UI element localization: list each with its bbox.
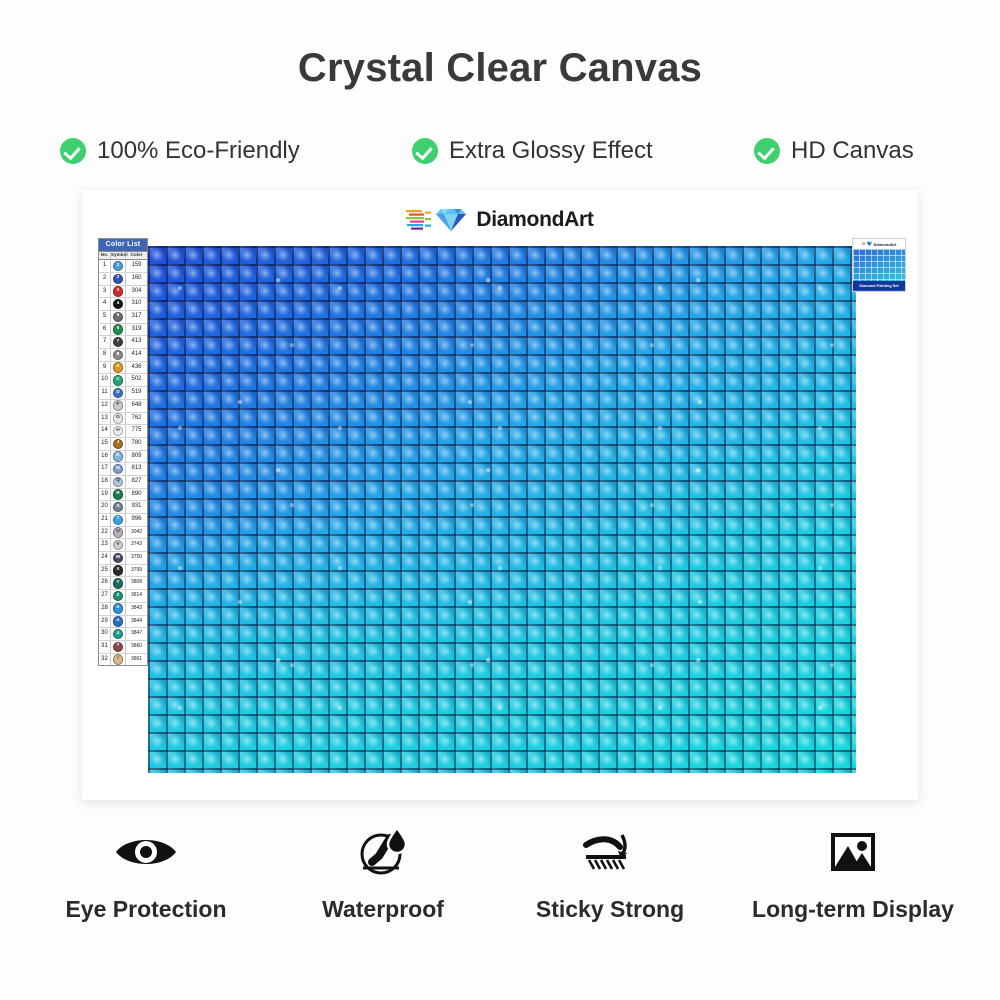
cell-symbol: 1 xyxy=(111,260,126,272)
cell-no: 10 xyxy=(99,374,111,386)
table-row: 55317 xyxy=(99,311,147,324)
cell-symbol: J xyxy=(111,438,126,450)
cell-symbol: o xyxy=(111,603,126,615)
table-row: 3043847 xyxy=(99,628,147,641)
cell-color-code: 775 xyxy=(126,425,147,437)
product-marketing-page: Crystal Clear Canvas 100% Eco-Friendly E… xyxy=(0,0,1000,1000)
symbol-badge-icon: 3 xyxy=(113,286,123,296)
cell-no: 20 xyxy=(99,501,111,513)
symbol-badge-icon: N xyxy=(113,464,123,474)
symbol-badge-icon: o xyxy=(113,603,123,613)
cell-no: 25 xyxy=(99,565,111,577)
feature-label: Extra Glossy Effect xyxy=(449,137,653,165)
cell-color-code: 319 xyxy=(126,324,147,336)
cell-symbol: X xyxy=(111,565,126,577)
product-panel: DiamondArt Color List No. Symbol Color 1… xyxy=(82,190,918,800)
benefit-item-eye-protection: Eye Protection xyxy=(20,826,272,923)
thumbnail-diamond-grid xyxy=(853,249,905,281)
table-row: 21T996 xyxy=(99,514,147,527)
cell-color-code: 3847 xyxy=(126,628,147,640)
product-thumbnail: DiamondArt Diamond Painting Set xyxy=(852,238,906,292)
table-row: 27Z3814 xyxy=(99,590,147,603)
cell-color-code: 3042 xyxy=(126,527,147,539)
symbol-badge-icon: K xyxy=(113,451,123,461)
table-row: 9A436 xyxy=(99,362,147,375)
brand-logo: DiamondArt xyxy=(82,204,918,236)
benefit-item-sticky-strong: Sticky Strong xyxy=(494,826,726,923)
feature-list: 100% Eco-Friendly Extra Glossy Effect HD… xyxy=(60,131,950,171)
table-row: 13G762 xyxy=(99,413,147,426)
cell-no: 19 xyxy=(99,489,111,501)
table-row: 14H775 xyxy=(99,425,147,438)
symbol-badge-icon: C xyxy=(113,375,123,385)
cell-no: 22 xyxy=(99,527,111,539)
table-row: 32/3861 xyxy=(99,654,147,666)
table-row: 26Y3808 xyxy=(99,577,147,590)
cell-no: 8 xyxy=(99,349,111,361)
table-row: 22160 xyxy=(99,273,147,286)
cell-color-code: 809 xyxy=(126,451,147,463)
table-row: 17N813 xyxy=(99,463,147,476)
feature-item-eco-friendly: 100% Eco-Friendly xyxy=(60,137,412,165)
feature-item-hd-canvas: HD Canvas xyxy=(754,137,950,165)
cell-symbol: 4 xyxy=(111,628,126,640)
cell-symbol: H xyxy=(111,425,126,437)
table-row: 19R890 xyxy=(99,489,147,502)
cell-no: 14 xyxy=(99,425,111,437)
cell-color-code: 310 xyxy=(126,298,147,310)
cell-no: 23 xyxy=(99,539,111,551)
cell-no: 27 xyxy=(99,590,111,602)
table-row: 15J780 xyxy=(99,438,147,451)
feature-label: HD Canvas xyxy=(791,137,914,165)
cell-no: 31 xyxy=(99,641,111,653)
table-row: 10C502 xyxy=(99,374,147,387)
cell-no: 29 xyxy=(99,616,111,628)
cell-no: 12 xyxy=(99,400,111,412)
symbol-badge-icon: 4 xyxy=(113,629,123,639)
color-list-header: No. Symbol Color xyxy=(99,252,147,261)
symbol-badge-icon: 6 xyxy=(113,324,123,334)
cell-symbol: 8 xyxy=(111,349,126,361)
benefit-label: Long-term Display xyxy=(752,896,954,923)
cell-symbol: Z xyxy=(111,590,126,602)
page-title: Crystal Clear Canvas xyxy=(0,46,1000,91)
thumbnail-caption: Diamond Painting Set xyxy=(853,281,905,290)
thumbnail-brand-bar: DiamondArt xyxy=(853,239,905,249)
cell-no: 16 xyxy=(99,451,111,463)
symbol-badge-icon: Z xyxy=(113,591,123,601)
table-row: 25X3799 xyxy=(99,565,147,578)
symbol-badge-icon: W xyxy=(113,553,123,563)
cell-no: 1 xyxy=(99,260,111,272)
cell-color-code: 3861 xyxy=(126,654,147,666)
table-row: 20S931 xyxy=(99,501,147,514)
cell-symbol: K xyxy=(111,451,126,463)
cell-symbol: A xyxy=(111,362,126,374)
cell-symbol: V xyxy=(111,539,126,551)
check-circle-icon xyxy=(412,138,438,164)
cell-no: 15 xyxy=(99,438,111,450)
cell-no: 9 xyxy=(99,362,111,374)
cell-no: 21 xyxy=(99,514,111,526)
symbol-badge-icon: 2 xyxy=(113,274,123,284)
symbol-badge-icon: D xyxy=(113,388,123,398)
cell-symbol: / xyxy=(111,654,126,666)
diamond-logo-icon xyxy=(862,241,873,247)
cell-symbol: R xyxy=(111,489,126,501)
cell-no: 11 xyxy=(99,387,111,399)
symbol-badge-icon: Y xyxy=(113,578,123,588)
cell-color-code: 648 xyxy=(126,400,147,412)
symbol-badge-icon: V xyxy=(113,540,123,550)
table-row: 28o3843 xyxy=(99,603,147,616)
cell-symbol: 5 xyxy=(111,311,126,323)
symbol-badge-icon: 1 xyxy=(113,261,123,271)
cell-no: 26 xyxy=(99,577,111,589)
column-header-symbol: Symbol xyxy=(111,252,126,260)
symbol-badge-icon: 5 xyxy=(113,312,123,322)
cell-no: 3 xyxy=(99,286,111,298)
cell-color-code: 519 xyxy=(126,387,147,399)
waterdrop-check-icon xyxy=(357,826,409,878)
column-header-color: Color xyxy=(126,252,147,260)
cell-color-code: 436 xyxy=(126,362,147,374)
cell-no: 17 xyxy=(99,463,111,475)
cell-symbol: Y xyxy=(111,577,126,589)
table-row: 66319 xyxy=(99,324,147,337)
symbol-badge-icon: ? xyxy=(113,642,123,652)
diamond-canvas-artwork xyxy=(148,246,856,773)
symbol-badge-icon: 8 xyxy=(113,350,123,360)
cell-no: 28 xyxy=(99,603,111,615)
cell-no: 7 xyxy=(99,336,111,348)
table-row: 77413 xyxy=(99,336,147,349)
cell-no: 24 xyxy=(99,552,111,564)
cell-color-code: 762 xyxy=(126,413,147,425)
table-row: 31?3860 xyxy=(99,641,147,654)
cell-symbol: 6 xyxy=(111,324,126,336)
cell-symbol: U xyxy=(111,527,126,539)
cell-color-code: 996 xyxy=(126,514,147,526)
brand-name: DiamondArt xyxy=(476,208,593,232)
thumbnail-brand-name: DiamondArt xyxy=(874,242,897,247)
table-row: 11159 xyxy=(99,260,147,273)
table-row: 12F648 xyxy=(99,400,147,413)
table-row: 88414 xyxy=(99,349,147,362)
benefit-label: Eye Protection xyxy=(65,896,226,923)
symbol-badge-icon: F xyxy=(113,400,123,410)
cell-color-code: 159 xyxy=(126,260,147,272)
cell-color-code: 304 xyxy=(126,286,147,298)
sparkle-layer xyxy=(148,246,856,773)
cell-symbol: F xyxy=(111,400,126,412)
cell-symbol: u xyxy=(111,616,126,628)
cell-no: 30 xyxy=(99,628,111,640)
benefit-label: Sticky Strong xyxy=(536,896,684,923)
benefit-list: Eye Protection Waterproof xyxy=(20,826,980,936)
cell-color-code: 3743 xyxy=(126,539,147,551)
cell-color-code: 3860 xyxy=(126,641,147,653)
symbol-badge-icon: J xyxy=(113,439,123,449)
table-row: 22U3042 xyxy=(99,527,147,540)
symbol-badge-icon: X xyxy=(113,565,123,575)
cell-color-code: 414 xyxy=(126,349,147,361)
cell-color-code: 3808 xyxy=(126,577,147,589)
cell-symbol: 3 xyxy=(111,286,126,298)
cell-color-code: 890 xyxy=(126,489,147,501)
cell-color-code: 3843 xyxy=(126,603,147,615)
symbol-badge-icon: G xyxy=(113,413,123,423)
color-list-table: Color List No. Symbol Color 111592216033… xyxy=(98,238,148,666)
cell-color-code: 317 xyxy=(126,311,147,323)
symbol-badge-icon: R xyxy=(113,489,123,499)
cell-symbol: C xyxy=(111,374,126,386)
cell-no: 32 xyxy=(99,654,111,666)
table-row: 23V3743 xyxy=(99,539,147,552)
cell-no: 5 xyxy=(99,311,111,323)
cell-color-code: 3814 xyxy=(126,590,147,602)
cell-color-code: 3750 xyxy=(126,552,147,564)
symbol-badge-icon: 7 xyxy=(113,337,123,347)
symbol-badge-icon: / xyxy=(113,654,123,664)
table-row: 33304 xyxy=(99,286,147,299)
cell-no: 4 xyxy=(99,298,111,310)
color-list-title: Color List xyxy=(99,239,147,252)
cell-color-code: 3844 xyxy=(126,616,147,628)
cell-color-code: 813 xyxy=(126,463,147,475)
cell-color-code: 160 xyxy=(126,273,147,285)
symbol-badge-icon: u xyxy=(113,616,123,626)
cell-color-code: 413 xyxy=(126,336,147,348)
cell-no: 2 xyxy=(99,273,111,285)
symbol-badge-icon: H xyxy=(113,426,123,436)
table-row: 18Q827 xyxy=(99,476,147,489)
cell-symbol: T xyxy=(111,514,126,526)
cell-symbol: N xyxy=(111,463,126,475)
cell-color-code: 3799 xyxy=(126,565,147,577)
cell-symbol: Q xyxy=(111,476,126,488)
cell-symbol: D xyxy=(111,387,126,399)
cell-color-code: 780 xyxy=(126,438,147,450)
cell-no: 13 xyxy=(99,413,111,425)
table-row: 44310 xyxy=(99,298,147,311)
symbol-badge-icon: Q xyxy=(113,477,123,487)
table-row: 16K809 xyxy=(99,451,147,464)
color-list-body: 1115922160333044431055317663197741388414… xyxy=(99,260,147,665)
symbol-badge-icon: A xyxy=(113,362,123,372)
cell-no: 6 xyxy=(99,324,111,336)
cell-color-code: 827 xyxy=(126,476,147,488)
table-row: 24W3750 xyxy=(99,552,147,565)
symbol-badge-icon: 4 xyxy=(113,299,123,309)
symbol-badge-icon: T xyxy=(113,515,123,525)
table-row: 11D519 xyxy=(99,387,147,400)
column-header-no: No. xyxy=(99,252,111,260)
eye-icon xyxy=(114,826,178,878)
cell-symbol: 4 xyxy=(111,298,126,310)
feature-label: 100% Eco-Friendly xyxy=(97,137,300,165)
cell-symbol: 7 xyxy=(111,336,126,348)
benefit-item-waterproof: Waterproof xyxy=(272,826,494,923)
table-row: 29u3844 xyxy=(99,616,147,629)
benefit-item-long-term-display: Long-term Display xyxy=(726,826,980,923)
feature-item-glossy-effect: Extra Glossy Effect xyxy=(412,137,754,165)
cell-color-code: 931 xyxy=(126,501,147,513)
benefit-label: Waterproof xyxy=(322,896,444,923)
check-circle-icon xyxy=(754,138,780,164)
symbol-badge-icon: U xyxy=(113,527,123,537)
cell-no: 18 xyxy=(99,476,111,488)
cell-symbol: 2 xyxy=(111,273,126,285)
cell-symbol: W xyxy=(111,552,126,564)
picture-icon xyxy=(829,826,877,878)
check-circle-icon xyxy=(60,138,86,164)
symbol-badge-icon: S xyxy=(113,502,123,512)
diamond-logo-icon xyxy=(406,206,472,234)
cell-color-code: 502 xyxy=(126,374,147,386)
cell-symbol: ? xyxy=(111,641,126,653)
adhesive-icon xyxy=(582,826,638,878)
cell-symbol: S xyxy=(111,501,126,513)
cell-symbol: G xyxy=(111,413,126,425)
